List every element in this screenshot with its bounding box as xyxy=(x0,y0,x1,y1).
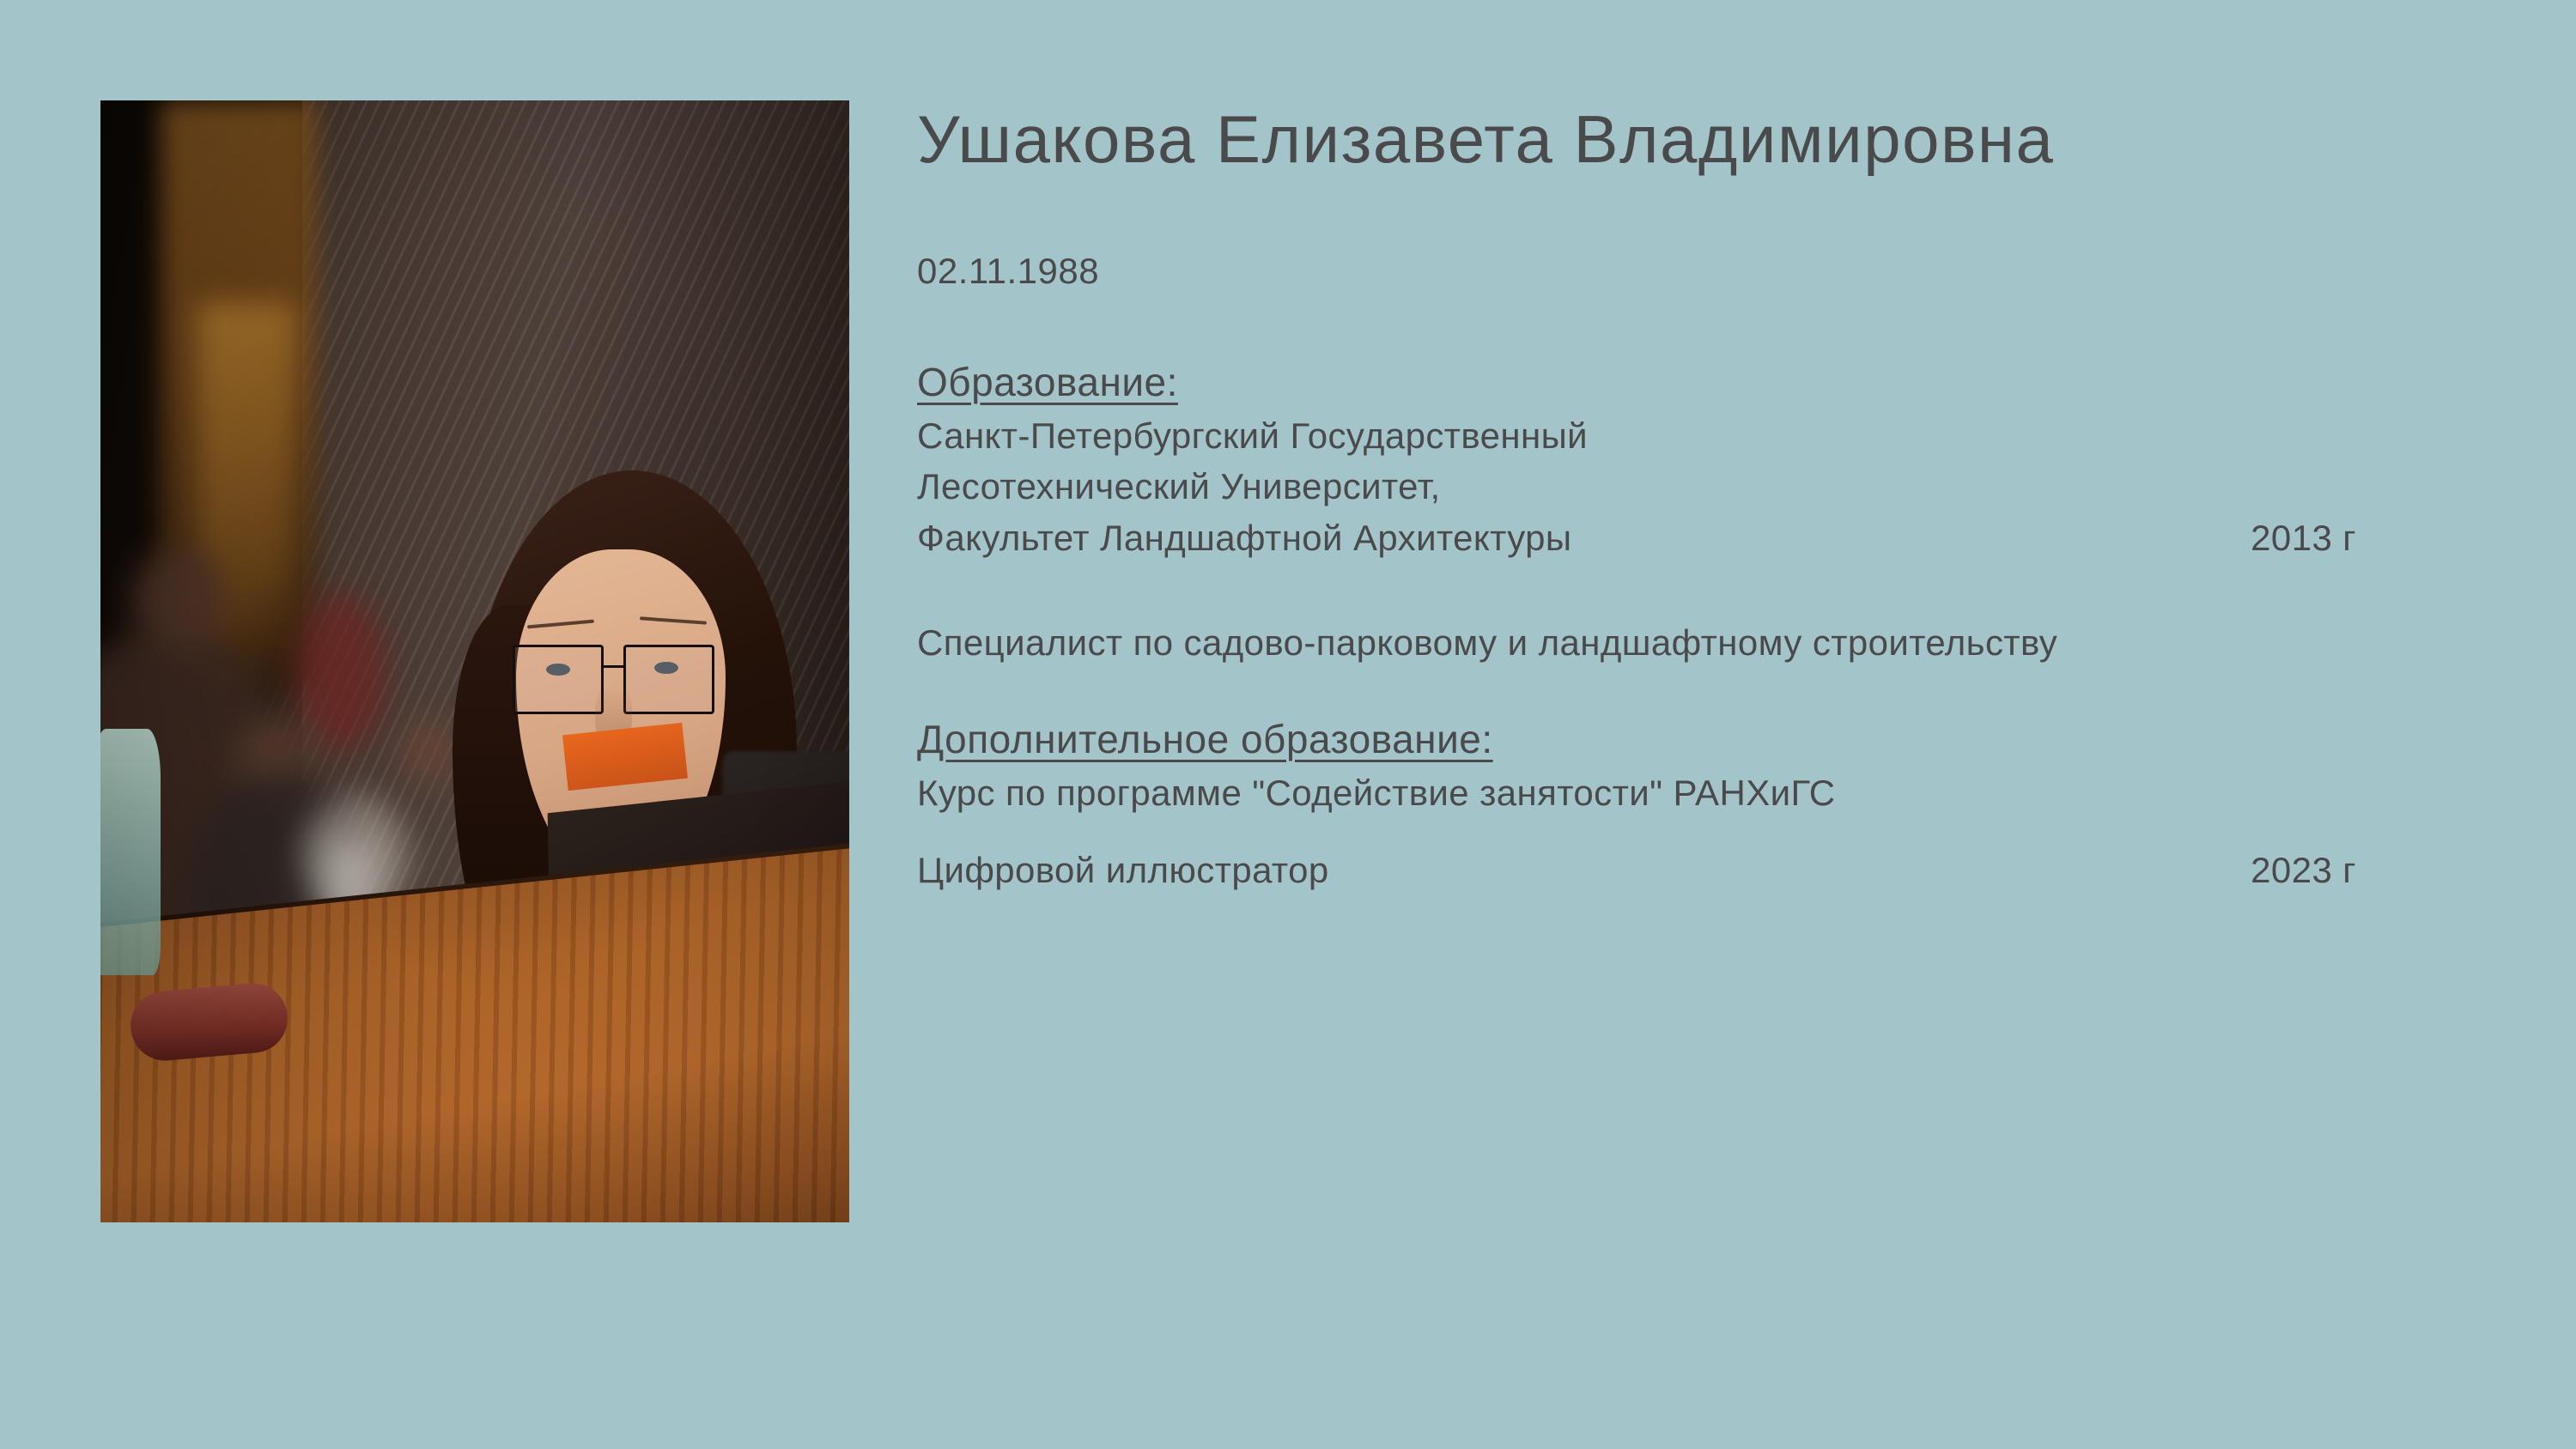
additional-education-heading: Дополнительное образование: xyxy=(917,716,2360,762)
additional-education-item: Цифровой иллюстратор 2023 г xyxy=(917,845,2360,896)
profile-photo xyxy=(100,100,849,1222)
education-line-year: 2013 г xyxy=(2251,512,2360,564)
education-line-text: Лесотехнический Университет, xyxy=(917,461,1441,512)
education-line-text: Санкт-Петербургский Государственный xyxy=(917,410,1588,462)
spacer xyxy=(917,819,2360,828)
page-title: Ушакова Елизавета Владимировна xyxy=(917,103,2360,177)
spacer xyxy=(917,668,2360,716)
spacer xyxy=(917,828,2360,836)
additional-education-item-text: Курс по программе "Содействие занятости"… xyxy=(917,767,1835,819)
spacer xyxy=(917,836,2360,845)
photo-scene xyxy=(100,100,849,1222)
education-line: Санкт-Петербургский Государственный xyxy=(917,410,2360,462)
education-line: Лесотехнический Университет, xyxy=(917,461,2360,512)
spacer xyxy=(917,564,2360,617)
profile-slide: Ушакова Елизавета Владимировна 02.11.198… xyxy=(0,0,2576,1449)
additional-education-item-text: Цифровой иллюстратор xyxy=(917,845,1329,896)
education-line-text: Факультет Ландшафтной Архитектуры xyxy=(917,512,1572,564)
photo-vignette xyxy=(100,100,849,1222)
qualification-text: Специалист по садово-парковому и ландшаф… xyxy=(917,617,2119,669)
profile-text-column: Ушакова Елизавета Владимировна 02.11.198… xyxy=(917,103,2360,896)
additional-education-item: Курс по программе "Содействие занятости"… xyxy=(917,767,2360,819)
additional-education-item-year: 2023 г xyxy=(2251,845,2360,896)
education-line: Факультет Ландшафтной Архитектуры 2013 г xyxy=(917,512,2360,564)
birthdate: 02.11.1988 xyxy=(917,251,2360,292)
education-heading: Образование: xyxy=(917,359,2360,405)
